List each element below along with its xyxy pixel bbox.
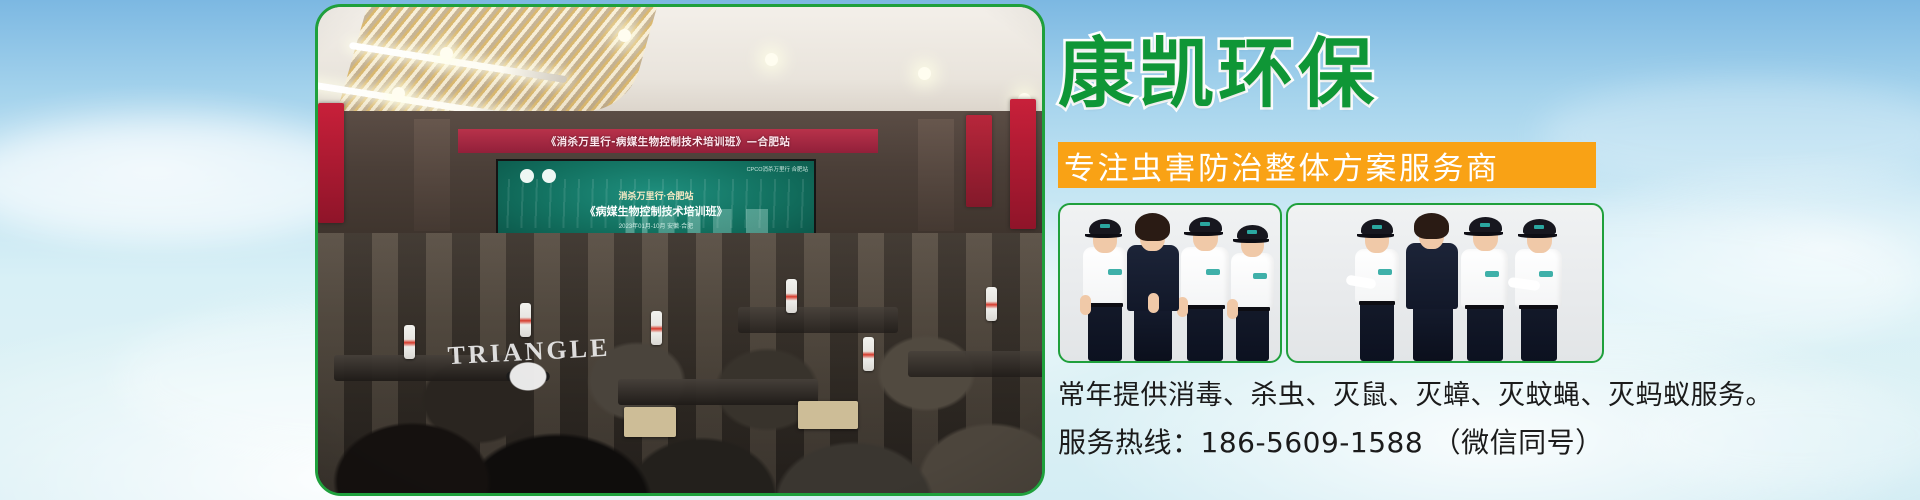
water-bottle bbox=[786, 279, 797, 313]
team-photo-left bbox=[1058, 203, 1282, 363]
notebook bbox=[624, 407, 676, 437]
team-member bbox=[1400, 203, 1464, 361]
side-banner bbox=[318, 103, 344, 223]
side-banner bbox=[1010, 99, 1036, 229]
team-photo-right bbox=[1286, 203, 1604, 363]
water-bottle bbox=[986, 287, 997, 321]
brand-column: 康凯环保 专注虫害防治整体方案服务商 bbox=[1058, 0, 1618, 500]
team-member bbox=[1122, 203, 1184, 361]
team-member bbox=[1456, 205, 1514, 361]
ceiling-spotlight bbox=[765, 53, 778, 66]
water-bottle bbox=[863, 337, 874, 371]
service-scope-text: 常年提供消毒、杀虫、灭鼠、灭蟑、灭蚊蝇、灭蚂蚁服务。 bbox=[1058, 373, 1773, 412]
led-corner-text: CPCO消杀万里行 合肥站 bbox=[747, 166, 808, 174]
promo-banner: 《消杀万里行-病媒生物控制技术培训班》—合肥站 CPCO消杀万里行 合肥站 消杀… bbox=[0, 0, 1920, 500]
led-line-1: 消杀万里行·合肥站 bbox=[498, 189, 814, 202]
conference-photo: 《消杀万里行-病媒生物控制技术培训班》—合肥站 CPCO消杀万里行 合肥站 消杀… bbox=[315, 4, 1045, 496]
brand-subtitle-text: 专注虫害防治整体方案服务商 bbox=[1064, 143, 1500, 188]
notebook bbox=[798, 401, 858, 429]
conference-table bbox=[908, 351, 1045, 377]
conference-table bbox=[738, 307, 898, 333]
conference-table bbox=[618, 379, 818, 405]
side-banner bbox=[966, 115, 992, 207]
water-bottle bbox=[651, 311, 662, 345]
water-bottle bbox=[404, 325, 415, 359]
team-photo-row bbox=[1058, 203, 1604, 363]
ceiling-spotlight bbox=[618, 29, 631, 42]
hotline-text: 服务热线：186-5609-1588 （微信同号） bbox=[1058, 421, 1604, 461]
stage-banner: 《消杀万里行-病媒生物控制技术培训班》—合肥站 bbox=[458, 129, 878, 153]
led-logo-icon bbox=[542, 169, 556, 183]
ceiling-spotlight bbox=[392, 87, 405, 100]
team-member bbox=[1510, 207, 1568, 361]
stage-banner-text: 《消杀万里行-病媒生物控制技术培训班》—合肥站 bbox=[546, 134, 791, 149]
ceiling-spotlight bbox=[440, 47, 453, 60]
brand-title: 康凯环保 bbox=[1058, 36, 1618, 112]
ceiling-spotlight bbox=[918, 67, 931, 80]
brand-subtitle-bar: 专注虫害防治整体方案服务商 bbox=[1058, 142, 1596, 188]
team-member bbox=[1350, 209, 1404, 361]
team-member bbox=[1226, 213, 1280, 361]
water-bottle bbox=[520, 303, 531, 337]
wall-panel bbox=[414, 119, 450, 231]
wall-panel bbox=[918, 119, 954, 231]
led-logo-icon bbox=[520, 169, 534, 183]
